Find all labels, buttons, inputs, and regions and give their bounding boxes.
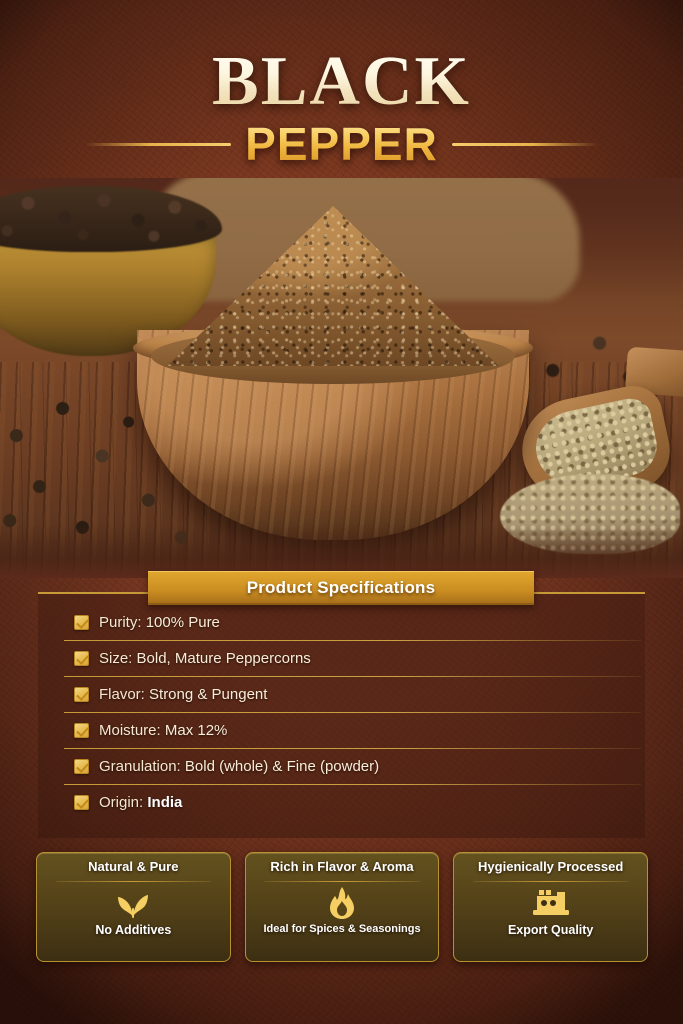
spec-label-size: Size: Bold, Mature Peppercorns (99, 650, 311, 667)
specifications-banner: Product Specifications (148, 571, 534, 605)
spec-row-size: Size: Bold, Mature Peppercorns (38, 640, 645, 676)
title-rule-row: PEPPER (0, 121, 683, 167)
title-rule-left-icon (85, 143, 231, 146)
feature-card-subtitle: No Additives (95, 923, 171, 937)
poster-title-block: BLACK PEPPER (0, 48, 683, 167)
feature-card-subtitle: Ideal for Spices & Seasonings (263, 923, 420, 936)
checkbox-checked-icon (74, 615, 89, 630)
feature-card-hygienically-processed: Hygienically Processed Export Quality (453, 852, 648, 962)
feature-card-title: Hygienically Processed (478, 860, 623, 875)
feature-card-natural-pure: Natural & Pure No Additives (36, 852, 231, 962)
spec-row-purity: Purity: 100% Pure (38, 604, 645, 640)
card-divider (264, 881, 419, 882)
checkbox-checked-icon (74, 795, 89, 810)
spec-value-origin: India (147, 794, 182, 811)
checkbox-checked-icon (74, 687, 89, 702)
specifications-banner-label: Product Specifications (247, 578, 436, 598)
checkbox-checked-icon (74, 723, 89, 738)
spec-value-size: Bold, Mature Peppercorns (137, 650, 311, 667)
checkbox-checked-icon (74, 651, 89, 666)
feature-card-rich-flavor-aroma: Rich in Flavor & Aroma Ideal for Spices … (245, 852, 440, 962)
page-title: BLACK (0, 48, 683, 115)
checkbox-checked-icon (74, 759, 89, 774)
title-rule-right-icon (452, 143, 598, 146)
factory-icon (531, 887, 571, 919)
spec-row-moisture: Moisture: Max 12% (38, 712, 645, 748)
spec-label-purity: Purity: 100% Pure (99, 614, 220, 631)
card-divider (473, 881, 628, 882)
spec-row-origin: Origin: India (38, 784, 645, 820)
spec-row-granulation: Granulation: Bold (whole) & Fine (powder… (38, 748, 645, 784)
leaf-icon (116, 887, 150, 919)
feature-card-title: Natural & Pure (88, 860, 178, 875)
spec-value-flavor: Strong & Pungent (149, 686, 267, 703)
feature-card-subtitle: Export Quality (508, 923, 593, 937)
product-specifications-panel: Purity: 100% Pure Size: Bold, Mature Pep… (38, 592, 645, 838)
spec-value-moisture: Max 12% (165, 722, 228, 739)
hero-product-photo (0, 178, 683, 578)
specifications-list: Purity: 100% Pure Size: Bold, Mature Pep… (38, 594, 645, 820)
spec-value-granulation: Bold (whole) & Fine (powder) (185, 758, 379, 775)
spec-label-origin: Origin: India (99, 794, 182, 811)
page-subtitle: PEPPER (245, 121, 438, 167)
flame-icon (328, 887, 356, 919)
spec-row-flavor: Flavor: Strong & Pungent (38, 676, 645, 712)
spec-value-purity: 100% Pure (146, 614, 220, 631)
card-divider (56, 881, 211, 882)
spec-label-moisture: Moisture: Max 12% (99, 722, 227, 739)
product-poster: BLACK PEPPER Purity: 100% Pure Size: Bol… (0, 0, 683, 1024)
spec-label-flavor: Flavor: Strong & Pungent (99, 686, 267, 703)
feature-cards: Natural & Pure No Additives Rich in Flav… (36, 852, 648, 962)
feature-card-title: Rich in Flavor & Aroma (270, 860, 413, 875)
spec-label-granulation: Granulation: Bold (whole) & Fine (powder… (99, 758, 379, 775)
hero-bottom-fade (0, 524, 683, 578)
